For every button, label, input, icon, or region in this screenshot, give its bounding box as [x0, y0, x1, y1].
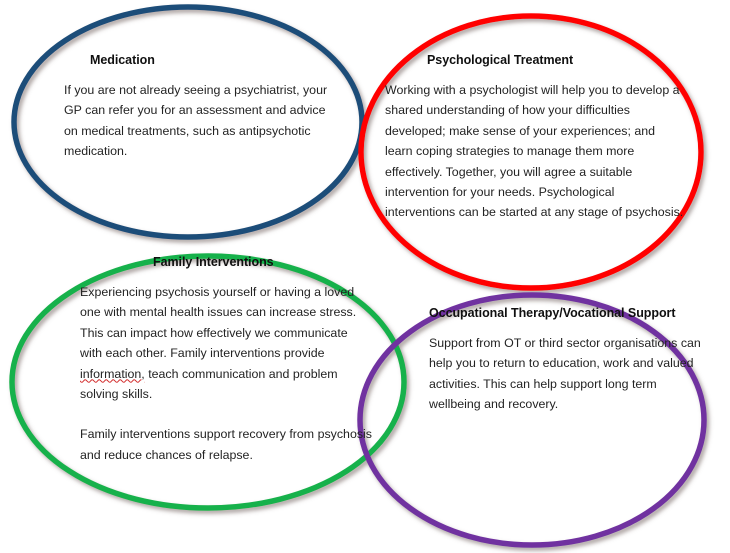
body-family-interventions-1: Experiencing psychosis yourself or havin… — [80, 282, 372, 404]
heading-medication: Medication — [90, 53, 332, 67]
section-occupational-therapy: Occupational Therapy/Vocational Support … — [429, 306, 701, 415]
heading-psychological-treatment: Psychological Treatment — [427, 53, 685, 67]
heading-occupational-therapy: Occupational Therapy/Vocational Support — [429, 306, 701, 320]
heading-family-interventions: Family Interventions — [153, 255, 372, 269]
body-family-part-a: Experiencing psychosis yourself or havin… — [80, 285, 356, 360]
body-family-interventions-2: Family interventions support recovery fr… — [80, 424, 372, 465]
section-medication: Medication If you are not already seeing… — [64, 53, 332, 162]
misspelled-word-information: information, — [80, 367, 145, 381]
body-medication: If you are not already seeing a psychiat… — [64, 80, 332, 162]
venn-diagram-canvas: Medication If you are not already seeing… — [0, 0, 730, 553]
body-psychological-treatment: Working with a psychologist will help yo… — [385, 80, 685, 223]
section-family-interventions: Family Interventions Experiencing psycho… — [80, 255, 372, 465]
section-psychological-treatment: Psychological Treatment Working with a p… — [385, 53, 685, 223]
body-occupational-therapy: Support from OT or third sector organisa… — [429, 333, 701, 415]
